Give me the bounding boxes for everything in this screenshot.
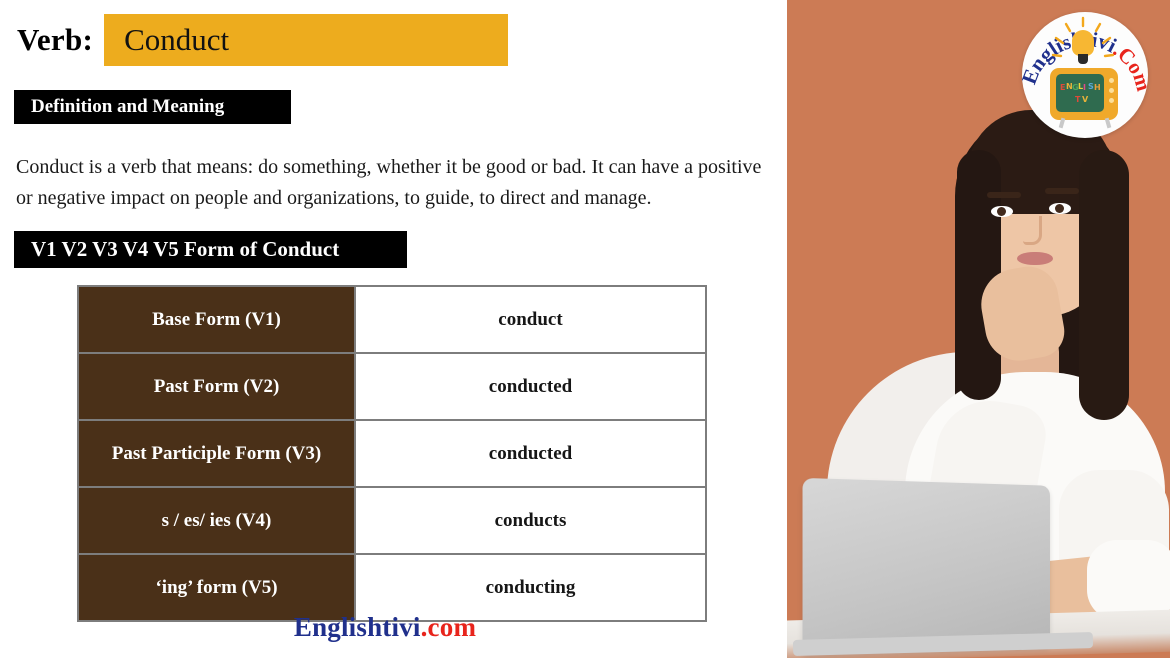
table-row: Past Form (V2) conducted [78, 353, 706, 420]
eye-right [1049, 203, 1071, 214]
verb-value: Conduct [104, 22, 229, 58]
eyebrow-right [1045, 188, 1079, 194]
eye-left [991, 206, 1013, 217]
television-icon: E N G L I S H T V [1050, 68, 1118, 120]
form-label: s / es/ ies (V4) [78, 487, 355, 554]
form-value: conducted [355, 353, 706, 420]
form-label: Past Participle Form (V3) [78, 420, 355, 487]
form-label: ‘ing’ form (V5) [78, 554, 355, 621]
form-value: conducted [355, 420, 706, 487]
table-row: ‘ing’ form (V5) conducting [78, 554, 706, 621]
verb-heading-row: Verb: Conduct [17, 14, 508, 66]
brand-name: Englishtivi [294, 612, 421, 642]
form-value: conducts [355, 487, 706, 554]
definition-badge: Definition and Meaning [14, 90, 291, 124]
tv-letter: S [1088, 83, 1094, 91]
tv-knob-middle [1109, 88, 1114, 93]
laptop-lid [803, 478, 1050, 654]
tv-knob-upper [1109, 78, 1114, 83]
tv-knob-lower [1109, 98, 1114, 103]
form-label: Past Form (V2) [78, 353, 355, 420]
tv-letter: V [1082, 96, 1088, 104]
hair-right-strand [1079, 150, 1129, 420]
tv-letter: H [1094, 84, 1101, 92]
table-row: Past Participle Form (V3) conducted [78, 420, 706, 487]
brand-tld: .com [421, 612, 477, 642]
form-label: Base Form (V1) [78, 286, 355, 353]
englishtivi-logo-badge[interactable]: Englishtivi.Com E N G L [1022, 12, 1148, 138]
television-screen: E N G L I S H T V [1056, 74, 1104, 112]
photo-panel: Englishtivi.Com E N G L [787, 0, 1170, 658]
tv-letter: E [1060, 84, 1065, 92]
lips [1017, 252, 1053, 265]
footer-brand[interactable]: Englishtivi.com [0, 612, 770, 643]
nose [1023, 216, 1042, 245]
form-value: conducting [355, 554, 706, 621]
verb-label: Verb: [17, 22, 93, 58]
definition-text: Conduct is a verb that means: do somethi… [16, 152, 776, 214]
table-row: s / es/ ies (V4) conducts [78, 487, 706, 554]
verb-forms-table: Base Form (V1) conduct Past Form (V2) co… [77, 285, 707, 622]
verb-forms-badge: V1 V2 V3 V4 V5 Form of Conduct [14, 231, 407, 268]
sleeve-right [1087, 540, 1170, 620]
verb-highlight-box: Conduct [104, 14, 508, 66]
lightbulb-base-icon [1078, 54, 1088, 64]
table-row: Base Form (V1) conduct [78, 286, 706, 353]
tv-letter: I [1083, 84, 1086, 92]
tv-letter: T [1075, 96, 1080, 104]
lightbulb-icon [1072, 30, 1094, 56]
form-value: conduct [355, 286, 706, 353]
eyebrow-left [987, 192, 1021, 198]
